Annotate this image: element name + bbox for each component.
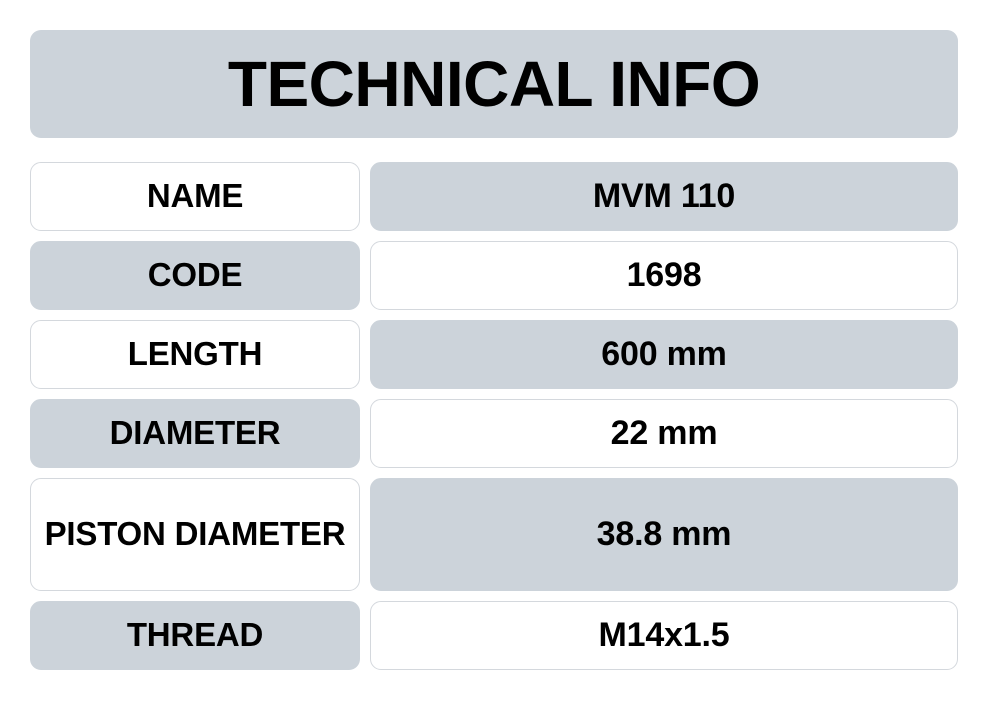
table-row: LENGTH 600 mm — [30, 320, 958, 389]
page-title: TECHNICAL INFO — [228, 52, 760, 116]
spec-label-cell: THREAD — [30, 601, 360, 670]
table-row: PISTON DIAMETER 38.8 mm — [30, 478, 958, 591]
spec-label-text: NAME — [147, 178, 243, 215]
table-row: DIAMETER 22 mm — [30, 399, 958, 468]
spec-label-text: CODE — [148, 257, 243, 294]
spec-value-text: 22 mm — [611, 414, 718, 452]
technical-info-sheet: TECHNICAL INFO NAME MVM 110 CODE 1698 LE… — [0, 0, 988, 718]
spec-label-cell: NAME — [30, 162, 360, 231]
spec-label-text: PISTON DIAMETER — [45, 516, 346, 553]
spec-value-cell: 22 mm — [370, 399, 958, 468]
spec-value-text: MVM 110 — [593, 177, 735, 215]
spec-value-cell: 1698 — [370, 241, 958, 310]
spec-label-text: LENGTH — [128, 336, 262, 373]
spec-label-text: DIAMETER — [110, 415, 281, 452]
spec-value-cell: 600 mm — [370, 320, 958, 389]
spec-value-cell: MVM 110 — [370, 162, 958, 231]
spec-label-text: THREAD — [127, 617, 263, 654]
table-row: THREAD M14x1.5 — [30, 601, 958, 670]
spec-label-cell: CODE — [30, 241, 360, 310]
spec-table: NAME MVM 110 CODE 1698 LENGTH 600 mm — [30, 162, 958, 670]
spec-value-cell: 38.8 mm — [370, 478, 958, 591]
spec-value-text: 600 mm — [601, 335, 726, 373]
spec-label-cell: DIAMETER — [30, 399, 360, 468]
spec-label-cell: PISTON DIAMETER — [30, 478, 360, 591]
spec-label-cell: LENGTH — [30, 320, 360, 389]
spec-value-text: M14x1.5 — [599, 616, 730, 654]
table-row: CODE 1698 — [30, 241, 958, 310]
page-title-bar: TECHNICAL INFO — [30, 30, 958, 138]
spec-value-text: 1698 — [627, 256, 702, 294]
spec-value-text: 38.8 mm — [597, 515, 732, 553]
spec-value-cell: M14x1.5 — [370, 601, 958, 670]
table-row: NAME MVM 110 — [30, 162, 958, 231]
